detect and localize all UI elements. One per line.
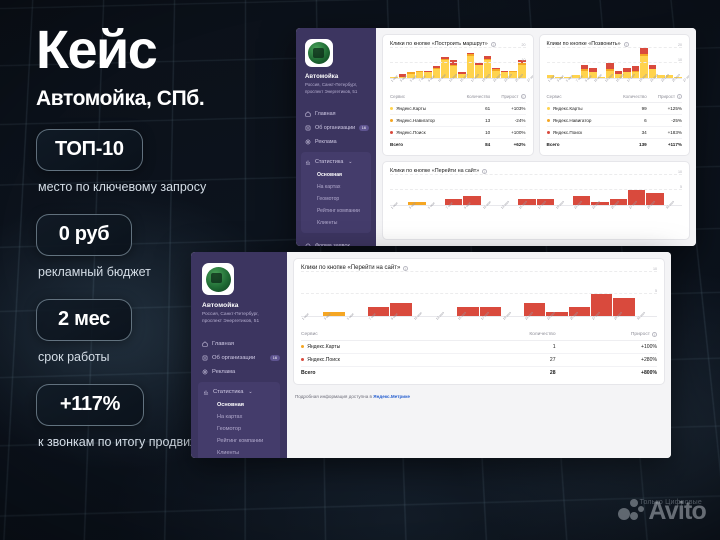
- target-icon: [202, 369, 208, 375]
- card-site[interactable]: Клики по кнопке «Перейти на сайт» i 5101…: [293, 258, 665, 385]
- info-icon[interactable]: i: [403, 266, 408, 271]
- legend-dot-icon: [390, 131, 393, 134]
- th-growth: Приростi: [556, 330, 657, 341]
- cell-total-count: 28: [454, 367, 556, 380]
- sidebar-subitem-rating[interactable]: Рейтинг компании: [198, 435, 280, 447]
- cell-growth: -25%: [647, 115, 682, 127]
- cell-service: Яндекс.Навигатор: [390, 115, 456, 127]
- sidebar-subitem-geomotor[interactable]: Геомотор: [301, 193, 371, 205]
- table-row: Яндекс.Поиск27+280%: [301, 354, 657, 367]
- chart-y-tick: 20: [522, 43, 526, 47]
- chart-icon: [203, 389, 209, 395]
- table-row: Яндекс.Поиск10+100%: [390, 127, 526, 139]
- chart-gridline: [547, 62, 683, 63]
- org-name: Автомойка: [305, 74, 368, 80]
- sidebar-subitem-clients[interactable]: Клиенты: [198, 447, 280, 458]
- chart-x-axis: 1 мая3 мая5 мая7 мая9 мая11 мая13 мая15 …: [390, 80, 526, 89]
- stat-value-growth: +117%: [36, 384, 144, 426]
- chart-x-tick: 27 мая: [526, 73, 534, 87]
- sidebar-item-statistics[interactable]: Статистика ⌄: [301, 155, 371, 169]
- chart-y-tick: 10: [653, 267, 657, 271]
- org-address: Россия, Санкт-Петербург, проспект Энерге…: [202, 311, 280, 325]
- th-service: Сервис: [547, 92, 613, 103]
- legend-dot-icon: [547, 131, 550, 134]
- chevron-down-icon: ⌄: [347, 159, 353, 165]
- sidebar-subitem-maps[interactable]: На картах: [198, 411, 280, 423]
- cell-total-count: 84: [456, 139, 490, 151]
- cell-total-growth: +117%: [647, 139, 682, 151]
- dashboard-window-bottom[interactable]: Автомойка Россия, Санкт-Петербург, просп…: [191, 252, 671, 458]
- table-route-body: Яндекс.Карты61+103%Яндекс.Навигатор13-24…: [390, 103, 526, 151]
- chart-icon: [305, 159, 311, 165]
- sidebar-item-home-label: Главная: [212, 341, 234, 347]
- cell-total-label: Всего: [547, 139, 613, 151]
- cell-total-count: 139: [612, 139, 646, 151]
- cell-service: Яндекс.Поиск: [301, 354, 454, 367]
- sidebar-item-statistics[interactable]: Статистика ⌄: [198, 385, 280, 399]
- chart-x-tick: 27 мая: [682, 73, 690, 87]
- cell-count: 1: [454, 341, 556, 354]
- table-row: Яндекс.Навигатор13-24%: [390, 115, 526, 127]
- org-avatar-image: [308, 42, 330, 64]
- chart-gridline: [301, 293, 657, 294]
- cell-count: 61: [456, 103, 490, 115]
- chart-call: 10201 мая3 мая5 мая7 мая9 мая11 мая13 ма…: [547, 49, 683, 89]
- dashboard-content-bottom: Клики по кнопке «Перейти на сайт» i 5101…: [287, 252, 671, 458]
- th-service: Сервис: [301, 330, 454, 341]
- th-count: Количество: [456, 92, 490, 103]
- card-route[interactable]: Клики по кнопке «Построить маршрут» i 10…: [382, 34, 534, 156]
- sidebar-item-home[interactable]: Главная: [191, 337, 287, 351]
- info-icon[interactable]: i: [482, 169, 487, 174]
- cell-service: Яндекс.Поиск: [547, 127, 613, 139]
- th-growth: Приростi: [647, 92, 682, 103]
- chart-x-axis: 1 мая3 мая5 мая7 мая9 мая11 мая13 мая15 …: [547, 80, 683, 89]
- sidebar-subitem-geomotor[interactable]: Геомотор: [198, 423, 280, 435]
- table-site: Сервис Количество Приростi Яндекс.Карты1…: [301, 330, 657, 379]
- sidebar-item-ads[interactable]: Реклама: [296, 135, 376, 149]
- card-site-top[interactable]: Клики по кнопке «Перейти на сайт» i 5101…: [382, 161, 690, 240]
- sidebar-item-about-badge: 16: [359, 125, 369, 131]
- sidebar-item-ads[interactable]: Реклама: [191, 365, 287, 379]
- table-row: Яндекс.Карты99+125%: [547, 103, 683, 115]
- dashboard-content-top: Клики по кнопке «Построить маршрут» i 10…: [376, 28, 696, 246]
- cell-total-label: Всего: [301, 367, 454, 380]
- org-address: Россия, Санкт-Петербург, проспект Энерге…: [305, 82, 369, 95]
- cell-growth: +280%: [556, 354, 657, 367]
- th-service: Сервис: [390, 92, 456, 103]
- sidebar-item-about-label: Об организации: [212, 355, 255, 361]
- sidebar-item-forms[interactable]: Форма заявок: [296, 239, 376, 246]
- page-subtitle: Автомойка, СПб.: [36, 87, 268, 111]
- avito-logo-icon: [618, 499, 644, 525]
- chart-gridline: [390, 174, 682, 175]
- org-avatar: [305, 39, 333, 67]
- cell-count: 27: [454, 354, 556, 367]
- info-icon[interactable]: i: [521, 94, 526, 99]
- building-icon: [202, 355, 208, 361]
- legend-dot-icon: [547, 107, 550, 110]
- chart-y-tick: 5: [655, 289, 657, 293]
- sidebar-subitem-rating[interactable]: Рейтинг компании: [301, 205, 371, 217]
- sidebar-bottom: Автомойка Россия, Санкт-Петербург, просп…: [191, 252, 287, 458]
- sidebar-item-about[interactable]: Об организации 16: [296, 121, 376, 135]
- cell-service: Яндекс.Поиск: [390, 127, 456, 139]
- cell-growth: +183%: [647, 127, 682, 139]
- home-icon: [202, 341, 208, 347]
- sidebar-group-statistics[interactable]: Статистика ⌄ Основная На картах Геомотор…: [301, 152, 371, 233]
- cell-growth: +125%: [647, 103, 682, 115]
- home-icon: [305, 111, 311, 117]
- sidebar-item-about-badge: 16: [270, 355, 280, 361]
- table-site-body: Яндекс.Карты1+100%Яндекс.Поиск27+280%Все…: [301, 341, 657, 380]
- sidebar-item-home-label: Главная: [315, 111, 336, 117]
- legend-dot-icon: [390, 119, 393, 122]
- cell-count: 13: [456, 115, 490, 127]
- chart-gridline: [390, 189, 682, 190]
- cell-total-label: Всего: [390, 139, 456, 151]
- sidebar-item-statistics-label: Статистика: [315, 159, 343, 165]
- chart-site: 5101 мая3 мая5 мая7 мая9 мая11 мая13 мая…: [301, 273, 657, 327]
- org-avatar: [202, 263, 234, 295]
- info-icon[interactable]: i: [652, 332, 657, 337]
- cell-service: Яндекс.Карты: [390, 103, 456, 115]
- cell-service: Яндекс.Карты: [301, 341, 454, 354]
- legend-dot-icon: [301, 345, 304, 348]
- info-icon[interactable]: i: [624, 42, 629, 47]
- stat-value-budget: 0 руб: [36, 214, 132, 256]
- chart-y-tick: 5: [680, 185, 682, 189]
- chart-y-tick: 10: [678, 58, 682, 62]
- cell-growth: -24%: [490, 115, 525, 127]
- sidebar-item-home[interactable]: Главная: [296, 107, 376, 121]
- legend-dot-icon: [301, 358, 304, 361]
- cell-count: 99: [612, 103, 646, 115]
- table-call-body: Яндекс.Карты99+125%Яндекс.Навигатор6-25%…: [547, 103, 683, 151]
- table-total-row: Всего139+117%: [547, 139, 683, 151]
- form-icon: [305, 243, 311, 246]
- avito-watermark: Avito: [618, 497, 706, 526]
- chart-gridline: [547, 47, 683, 48]
- org-name: Автомойка: [202, 302, 279, 309]
- chart-x-axis: 1 мая3 мая5 мая7 мая9 мая11 мая13 мая15 …: [390, 207, 682, 216]
- chevron-down-icon: ⌄: [247, 389, 253, 395]
- sidebar-item-ads-label: Реклама: [315, 139, 337, 145]
- table-total-row: Всего28+800%: [301, 367, 657, 380]
- sidebar-subitem-main[interactable]: Основная: [198, 399, 280, 411]
- chart-site-top: 5101 мая3 мая5 мая7 мая9 мая11 мая13 мая…: [390, 176, 682, 216]
- table-call: Сервис Количество Приростi Яндекс.Карты9…: [547, 92, 683, 150]
- avito-wordmark: Avito: [648, 497, 706, 526]
- table-row: Яндекс.Карты61+103%: [390, 103, 526, 115]
- sidebar-subitem-main[interactable]: Основная: [301, 169, 371, 181]
- dashboard-window-top[interactable]: Автомойка Россия, Санкт-Петербург, просп…: [296, 28, 696, 246]
- chart-gridline: [390, 47, 526, 48]
- sidebar-menu: Главная Об организации 16 Реклама: [296, 107, 376, 246]
- card-call[interactable]: Клики по кнопке «Позвонить» i 10201 мая3…: [539, 34, 691, 156]
- cell-growth: +100%: [490, 127, 525, 139]
- chart-route: 10201 мая3 мая5 мая7 мая9 мая11 мая13 ма…: [390, 49, 526, 89]
- info-icon[interactable]: i: [677, 94, 682, 99]
- table-route: Сервис Количество Приростi Яндекс.Карты6…: [390, 92, 526, 150]
- cell-count: 34: [612, 127, 646, 139]
- footnote: Подробная информация доступна в Яндекс.М…: [293, 390, 665, 399]
- sidebar-subitem-maps[interactable]: На картах: [301, 181, 371, 193]
- stat-block-0: ТОП-10 место по ключевому запросу: [36, 129, 268, 196]
- stat-value-top10: ТОП-10: [36, 129, 143, 171]
- cell-count: 6: [612, 115, 646, 127]
- info-icon[interactable]: i: [491, 42, 496, 47]
- chart-gridline: [301, 271, 657, 272]
- cell-count: 10: [456, 127, 490, 139]
- footnote-text: Подробная информация доступна в: [295, 394, 372, 399]
- table-row: Яндекс.Карты1+100%: [301, 341, 657, 354]
- sidebar-top: Автомойка Россия, Санкт-Петербург, просп…: [296, 28, 376, 246]
- chart-x-axis: 1 мая3 мая5 мая7 мая9 мая11 мая13 мая15 …: [301, 318, 657, 327]
- footnote-link[interactable]: Яндекс.Метрике: [373, 394, 410, 399]
- screenshot-root: Кейс Автомойка, СПб. ТОП-10 место по клю…: [0, 0, 720, 540]
- org-avatar-image: [206, 267, 231, 292]
- table-row: Яндекс.Поиск34+183%: [547, 127, 683, 139]
- sidebar-item-ads-label: Реклама: [212, 369, 235, 375]
- sidebar-subitem-clients[interactable]: Клиенты: [301, 217, 371, 229]
- chart-plot-area: 1020: [547, 49, 683, 79]
- chart-y-tick: 10: [522, 58, 526, 62]
- sidebar-item-about-label: Об организации: [315, 125, 355, 131]
- sidebar-menu: Главная Об организации 16 Реклама: [191, 337, 287, 458]
- cell-service: Яндекс.Навигатор: [547, 115, 613, 127]
- th-count: Количество: [612, 92, 646, 103]
- table-row: Яндекс.Навигатор6-25%: [547, 115, 683, 127]
- building-icon: [305, 125, 311, 131]
- sidebar-group-statistics[interactable]: Статистика ⌄ Основная На картах Геомотор…: [198, 382, 280, 458]
- cell-total-growth: +62%: [490, 139, 525, 151]
- cell-total-growth: +800%: [556, 367, 657, 380]
- chart-gridline: [390, 62, 526, 63]
- stat-caption-top10: место по ключевому запросу: [38, 179, 268, 196]
- sidebar-item-about[interactable]: Об организации 16: [191, 351, 287, 365]
- target-icon: [305, 139, 311, 145]
- page-title: Кейс: [36, 24, 268, 77]
- cell-growth: +103%: [490, 103, 525, 115]
- sidebar-item-statistics-label: Статистика: [213, 389, 243, 395]
- legend-dot-icon: [390, 107, 393, 110]
- legend-dot-icon: [547, 119, 550, 122]
- cell-growth: +100%: [556, 341, 657, 354]
- stat-value-duration: 2 мес: [36, 299, 132, 341]
- sidebar-item-forms-label: Форма заявок: [315, 243, 350, 246]
- table-total-row: Всего84+62%: [390, 139, 526, 151]
- cell-service: Яндекс.Карты: [547, 103, 613, 115]
- th-growth: Приростi: [490, 92, 525, 103]
- th-count: Количество: [454, 330, 556, 341]
- chart-y-tick: 10: [678, 170, 682, 174]
- chart-y-tick: 20: [678, 43, 682, 47]
